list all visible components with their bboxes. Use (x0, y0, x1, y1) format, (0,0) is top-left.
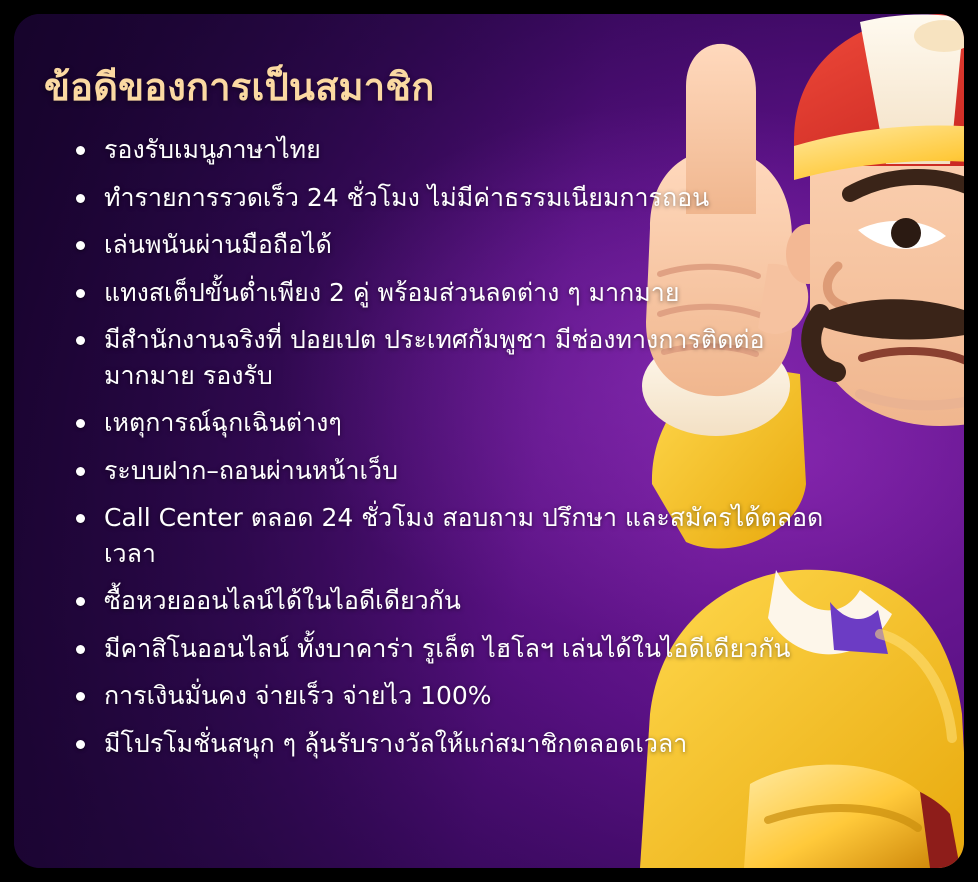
bullet-icon (76, 194, 85, 203)
benefits-list: รองรับเมนูภาษาไทย ทำรายการรวดเร็ว 24 ชั่… (66, 132, 826, 773)
list-item: มีสำนักงานจริงที่ ปอยเปต ประเทศกัมพูชา ม… (66, 322, 826, 393)
list-item-label: Call Center ตลอด 24 ชั่วโมง สอบถาม ปรึกษ… (104, 503, 823, 568)
bullet-icon (76, 241, 85, 250)
list-item: ซื้อหวยออนไลน์ได้ในไอดีเดียวกัน (66, 583, 826, 619)
list-item-label: ซื้อหวยออนไลน์ได้ในไอดีเดียวกัน (104, 586, 461, 615)
list-item: มีคาสิโนออนไลน์ ทั้งบาคาร่า รูเล็ต ไฮโลฯ… (66, 631, 826, 667)
bullet-icon (76, 645, 85, 654)
bullet-icon (76, 419, 85, 428)
list-item-label: ระบบฝาก–ถอนผ่านหน้าเว็บ (104, 456, 398, 485)
list-item: มีโปรโมชั่นสนุก ๆ ลุ้นรับรางวัลให้แก่สมา… (66, 726, 826, 762)
list-item-label: การเงินมั่นคง จ่ายเร็ว จ่ายไว 100% (104, 681, 492, 710)
list-item-label: มีสำนักงานจริงที่ ปอยเปต ประเทศกัมพูชา ม… (104, 325, 765, 390)
bullet-icon (76, 336, 85, 345)
list-item-label: แทงสเต็ปขั้นต่ำเพียง 2 คู่ พร้อมส่วนลดต่… (104, 278, 679, 307)
bullet-icon (76, 289, 85, 298)
list-item: การเงินมั่นคง จ่ายเร็ว จ่ายไว 100% (66, 678, 826, 714)
screenshot-root: ข้อดีของการเป็นสมาชิก รองรับเมนูภาษาไทย … (0, 0, 978, 882)
bullet-icon (76, 692, 85, 701)
list-item: ทำรายการรวดเร็ว 24 ชั่วโมง ไม่มีค่าธรรมเ… (66, 180, 826, 216)
list-item: รองรับเมนูภาษาไทย (66, 132, 826, 168)
bullet-icon (76, 146, 85, 155)
list-item-label: เล่นพนันผ่านมือถือได้ (104, 230, 332, 259)
list-item: เหตุการณ์ฉุกเฉินต่างๆ (66, 405, 826, 441)
benefits-panel: ข้อดีของการเป็นสมาชิก รองรับเมนูภาษาไทย … (14, 14, 964, 868)
page-title: ข้อดีของการเป็นสมาชิก (44, 56, 434, 117)
list-item-label: เหตุการณ์ฉุกเฉินต่างๆ (104, 408, 342, 437)
list-item-label: รองรับเมนูภาษาไทย (104, 135, 321, 164)
bullet-icon (76, 597, 85, 606)
list-item-label: ทำรายการรวดเร็ว 24 ชั่วโมง ไม่มีค่าธรรมเ… (104, 183, 709, 212)
list-item: ระบบฝาก–ถอนผ่านหน้าเว็บ (66, 453, 826, 489)
list-item: แทงสเต็ปขั้นต่ำเพียง 2 คู่ พร้อมส่วนลดต่… (66, 275, 826, 311)
bullet-icon (76, 740, 85, 749)
bullet-icon (76, 514, 85, 523)
list-item: เล่นพนันผ่านมือถือได้ (66, 227, 826, 263)
bullet-icon (76, 467, 85, 476)
top-black-bar (0, 0, 978, 14)
list-item-label: มีโปรโมชั่นสนุก ๆ ลุ้นรับรางวัลให้แก่สมา… (104, 729, 687, 758)
list-item: Call Center ตลอด 24 ชั่วโมง สอบถาม ปรึกษ… (66, 500, 826, 571)
list-item-label: มีคาสิโนออนไลน์ ทั้งบาคาร่า รูเล็ต ไฮโลฯ… (104, 634, 790, 663)
